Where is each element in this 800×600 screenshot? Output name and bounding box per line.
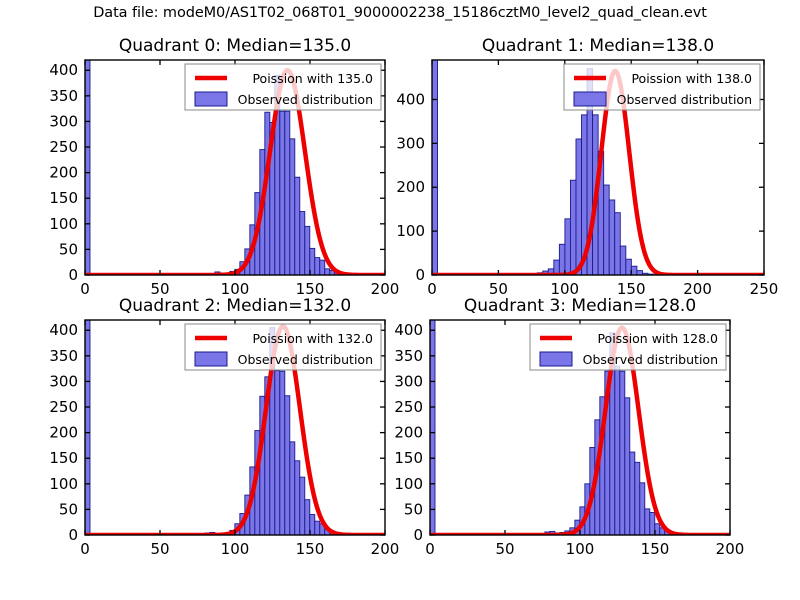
svg-text:200: 200 [716,540,745,558]
svg-text:0: 0 [413,526,423,544]
svg-text:300: 300 [49,372,78,390]
quadrant-2-title: Quadrant 2: Median=132.0 [85,296,385,316]
subplot-quadrant-1: Quadrant 1: Median=138.00501001502002500… [432,60,764,275]
svg-text:400: 400 [49,321,78,339]
quadrant-0-legend-label: Observed distribution [238,92,373,107]
quadrant-2-legend-label: Observed distribution [238,352,373,367]
svg-text:250: 250 [750,280,779,298]
quadrant-0-title: Quadrant 0: Median=135.0 [85,36,385,56]
svg-text:400: 400 [396,90,425,108]
svg-text:100: 100 [221,540,250,558]
svg-text:350: 350 [49,347,78,365]
quadrant-0-plot: 050100150200050100150200250300350400Pois… [30,60,390,315]
subplot-quadrant-3: Quadrant 3: Median=128.00501001502000501… [430,320,730,535]
svg-text:400: 400 [394,321,423,339]
svg-text:50: 50 [495,540,514,558]
svg-text:150: 150 [641,540,670,558]
svg-text:200: 200 [396,178,425,196]
subplot-quadrant-2: Quadrant 2: Median=132.00501001502000501… [85,320,385,535]
quadrant-3-title: Quadrant 3: Median=128.0 [430,296,730,316]
svg-text:0: 0 [68,526,78,544]
svg-text:50: 50 [404,500,423,518]
svg-text:100: 100 [566,540,595,558]
svg-text:150: 150 [49,449,78,467]
svg-text:150: 150 [394,449,423,467]
quadrant-3-legend[interactable]: Poission with 128.0Observed distribution [530,324,726,370]
svg-text:50: 50 [59,240,78,258]
svg-text:100: 100 [49,215,78,233]
figure-suptitle: Data file: modeM0/AS1T02_068T01_90000022… [0,5,800,21]
svg-text:250: 250 [394,398,423,416]
svg-text:0: 0 [68,266,78,284]
svg-text:100: 100 [396,222,425,240]
quadrant-0-legend-label: Poission with 135.0 [252,71,373,86]
svg-text:150: 150 [49,189,78,207]
svg-text:200: 200 [394,424,423,442]
svg-text:200: 200 [49,164,78,182]
svg-text:0: 0 [415,266,425,284]
svg-text:150: 150 [296,540,325,558]
quadrant-2-legend[interactable]: Poission with 132.0Observed distribution [185,324,381,370]
quadrant-1-plot: 0501001502002500100200300400Poission wit… [377,60,769,315]
svg-text:100: 100 [394,475,423,493]
quadrant-3-plot: 050100150200050100150200250300350400Pois… [375,320,735,575]
svg-text:0: 0 [80,540,90,558]
svg-text:300: 300 [49,112,78,130]
quadrant-3-legend-label: Poission with 128.0 [597,331,718,346]
quadrant-3-legend-label: Observed distribution [583,352,718,367]
svg-text:350: 350 [49,87,78,105]
quadrant-1-legend-label: Observed distribution [617,92,752,107]
svg-text:300: 300 [394,372,423,390]
svg-text:100: 100 [49,475,78,493]
svg-text:350: 350 [394,347,423,365]
svg-text:400: 400 [49,61,78,79]
quadrant-2-plot: 050100150200050100150200250300350400Pois… [30,320,390,575]
quadrant-1-legend-label: Poission with 138.0 [631,71,752,86]
figure-canvas: Data file: modeM0/AS1T02_068T01_90000022… [0,0,800,600]
svg-text:250: 250 [49,398,78,416]
svg-text:300: 300 [396,134,425,152]
subplot-quadrant-0: Quadrant 0: Median=135.00501001502000501… [85,60,385,275]
svg-text:250: 250 [49,138,78,156]
svg-text:200: 200 [49,424,78,442]
svg-text:50: 50 [59,500,78,518]
svg-text:50: 50 [150,540,169,558]
quadrant-1-legend[interactable]: Poission with 138.0Observed distribution [564,64,760,110]
svg-text:0: 0 [425,540,435,558]
quadrant-0-legend[interactable]: Poission with 135.0Observed distribution [185,64,381,110]
quadrant-2-legend-label: Poission with 132.0 [252,331,373,346]
quadrant-1-title: Quadrant 1: Median=138.0 [432,36,764,56]
